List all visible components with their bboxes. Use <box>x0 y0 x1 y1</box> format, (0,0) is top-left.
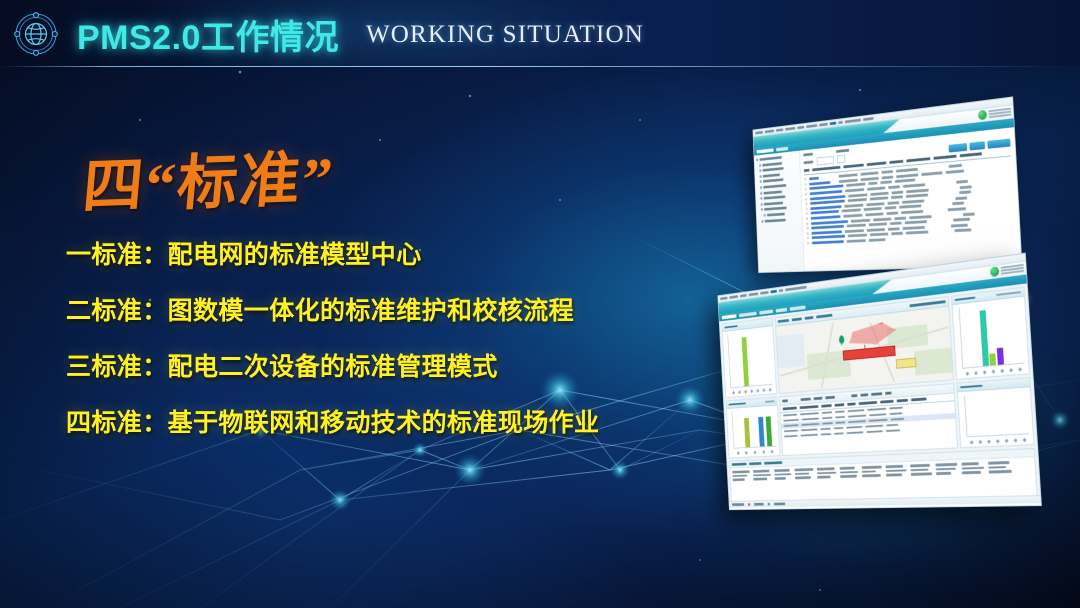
flow-node <box>732 470 750 481</box>
tree-node <box>758 206 799 211</box>
flow-node <box>862 466 883 478</box>
flow-node <box>910 464 932 476</box>
left-bar-chart-top[interactable] <box>722 317 777 398</box>
bar-chart-plot <box>727 330 772 388</box>
tree-node <box>758 200 799 206</box>
x-axis-ticks <box>967 435 1030 446</box>
reset-button[interactable] <box>969 141 985 150</box>
bar <box>990 353 997 366</box>
flow-node <box>935 463 957 475</box>
bar-chart-plot <box>732 409 777 449</box>
flow-node <box>961 462 984 474</box>
pms-dashboard-window[interactable] <box>717 253 1040 509</box>
map-info-label <box>896 358 916 369</box>
tree-node <box>758 189 799 195</box>
export-button[interactable] <box>987 138 1010 148</box>
navigation-tree[interactable] <box>754 151 805 273</box>
flow-node <box>774 469 791 480</box>
globe-network-icon <box>12 10 60 58</box>
bar <box>997 347 1004 365</box>
page-title-cn: PMS2.0工作情况 <box>77 10 339 59</box>
flow-node <box>988 461 1012 473</box>
flow-node <box>886 465 907 477</box>
company-logo-icon <box>978 110 987 121</box>
bar <box>741 337 748 386</box>
bullet-line-2: 二标准：图数模一体化的标准维护和校核流程 <box>66 291 574 327</box>
bar <box>744 417 750 447</box>
company-name-text <box>1001 263 1025 276</box>
flow-node <box>753 470 771 481</box>
pms-list-window[interactable] <box>753 97 1021 272</box>
tree-node <box>759 212 800 217</box>
section-calligraphy-title: 四“标准” <box>80 130 339 226</box>
left-bar-chart-bottom[interactable] <box>726 397 781 459</box>
flow-node <box>840 466 859 477</box>
company-name-text <box>988 107 1011 120</box>
bullet-line-1: 一标准：配电网的标准模型中心 <box>66 235 422 271</box>
x-axis-ticks <box>734 447 777 456</box>
bar-chart-plot <box>959 301 1025 369</box>
tree-node <box>759 217 800 222</box>
query-button[interactable] <box>948 143 967 153</box>
bar <box>758 416 764 446</box>
page-title-en: WORKING SITUATION <box>366 21 644 49</box>
slide-header: PMS2.0工作情况 WORKING SITUATION <box>0 0 1080 67</box>
right-empty-chart[interactable] <box>956 377 1034 448</box>
bullet-line-4: 四标准：基于物联网和移动技术的标准现场作业 <box>66 403 599 439</box>
map-marker-pin-icon[interactable] <box>839 335 845 344</box>
gis-map-panel[interactable] <box>775 296 954 394</box>
bullet-line-3: 三标准：配电二次设备的标准管理模式 <box>66 347 498 383</box>
tree-node <box>758 194 799 200</box>
status-indicator-icon <box>768 503 770 506</box>
slide-canvas: PMS2.0工作情况 WORKING SITUATION 四“标准” 一标准：配… <box>0 0 1080 608</box>
company-logo-icon <box>990 266 999 277</box>
status-indicator-icon <box>748 503 750 506</box>
center-data-table[interactable] <box>779 383 958 456</box>
flow-node <box>795 468 814 479</box>
bar <box>979 310 989 366</box>
right-bar-chart-top[interactable] <box>951 287 1030 380</box>
map-alarm-label <box>843 345 896 361</box>
bar <box>766 417 772 446</box>
flow-node <box>817 467 837 478</box>
header-divider <box>0 66 1080 67</box>
bar-chart-plot <box>964 391 1029 437</box>
